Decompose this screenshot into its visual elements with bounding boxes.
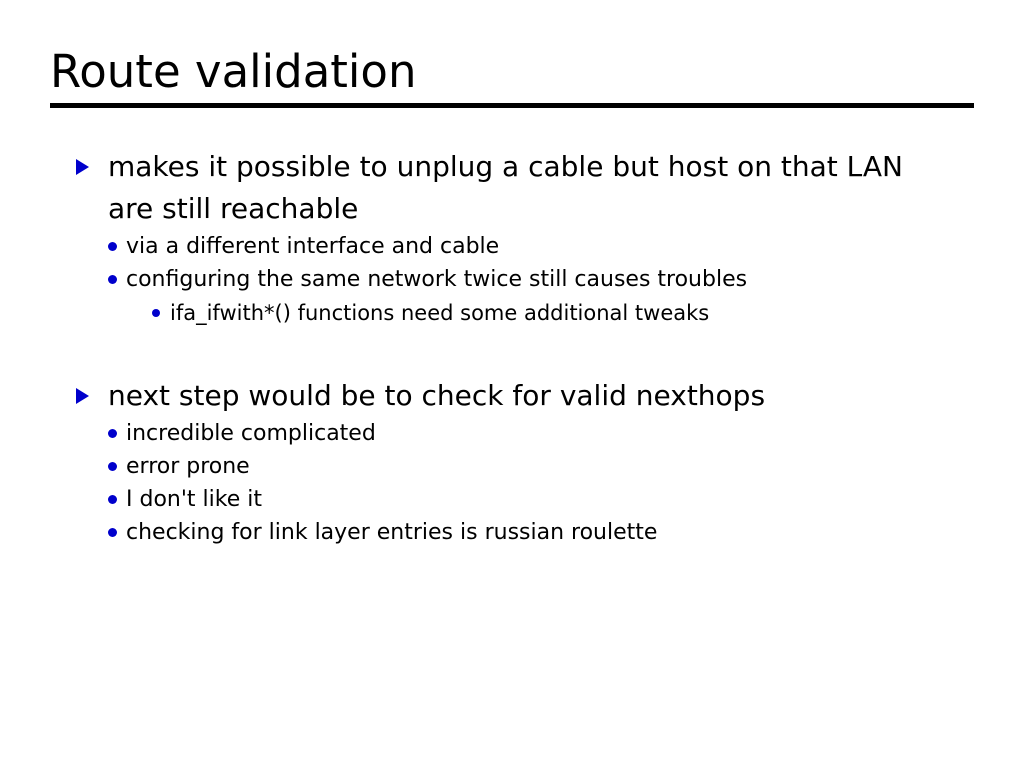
- dot-bullet-icon: [108, 462, 117, 471]
- bullet-level2: error prone: [0, 450, 1024, 483]
- bullet-level1-text: makes it possible to unplug a cable but …: [108, 150, 903, 225]
- bullet-level2-text: error prone: [126, 454, 250, 479]
- dot-bullet-icon: [108, 275, 117, 284]
- bullet-level2-text: checking for link layer entries is russi…: [126, 520, 657, 545]
- bullet-level2: incredible complicated: [0, 417, 1024, 450]
- dot-bullet-icon: [108, 495, 117, 504]
- bullet-level2-text: incredible complicated: [126, 421, 376, 446]
- title-block: Route validation: [50, 46, 974, 98]
- bullet-level3: ifa_ifwith*() functions need some additi…: [0, 296, 1024, 330]
- bullet-level1: next step would be to check for valid ne…: [0, 375, 1024, 417]
- slide-body: makes it possible to unplug a cable but …: [0, 146, 1024, 549]
- bullet-level1: makes it possible to unplug a cable but …: [0, 146, 1024, 230]
- title-underline-rule: [50, 103, 974, 108]
- bullet-level2: configuring the same network twice still…: [0, 263, 1024, 296]
- dot-bullet-icon: [108, 429, 117, 438]
- triangle-bullet-icon: [76, 159, 89, 175]
- bullet-level3-text: ifa_ifwith*() functions need some additi…: [170, 301, 709, 325]
- triangle-bullet-icon: [76, 388, 89, 404]
- bullet-level2: via a different interface and cable: [0, 230, 1024, 263]
- dot-bullet-icon: [108, 528, 117, 537]
- section-spacer: [0, 330, 1024, 375]
- dot-bullet-icon: [152, 309, 160, 317]
- dot-bullet-icon: [108, 242, 117, 251]
- slide-canvas: Route validation makes it possible to un…: [0, 0, 1024, 768]
- bullet-level2: I don't like it: [0, 483, 1024, 516]
- bullet-level2-text: via a different interface and cable: [126, 234, 499, 259]
- bullet-level2: checking for link layer entries is russi…: [0, 516, 1024, 549]
- page-title: Route validation: [50, 46, 974, 98]
- bullet-level2-text: configuring the same network twice still…: [126, 267, 747, 292]
- bullet-level1-text: next step would be to check for valid ne…: [108, 379, 765, 412]
- bullet-level2-text: I don't like it: [126, 487, 262, 512]
